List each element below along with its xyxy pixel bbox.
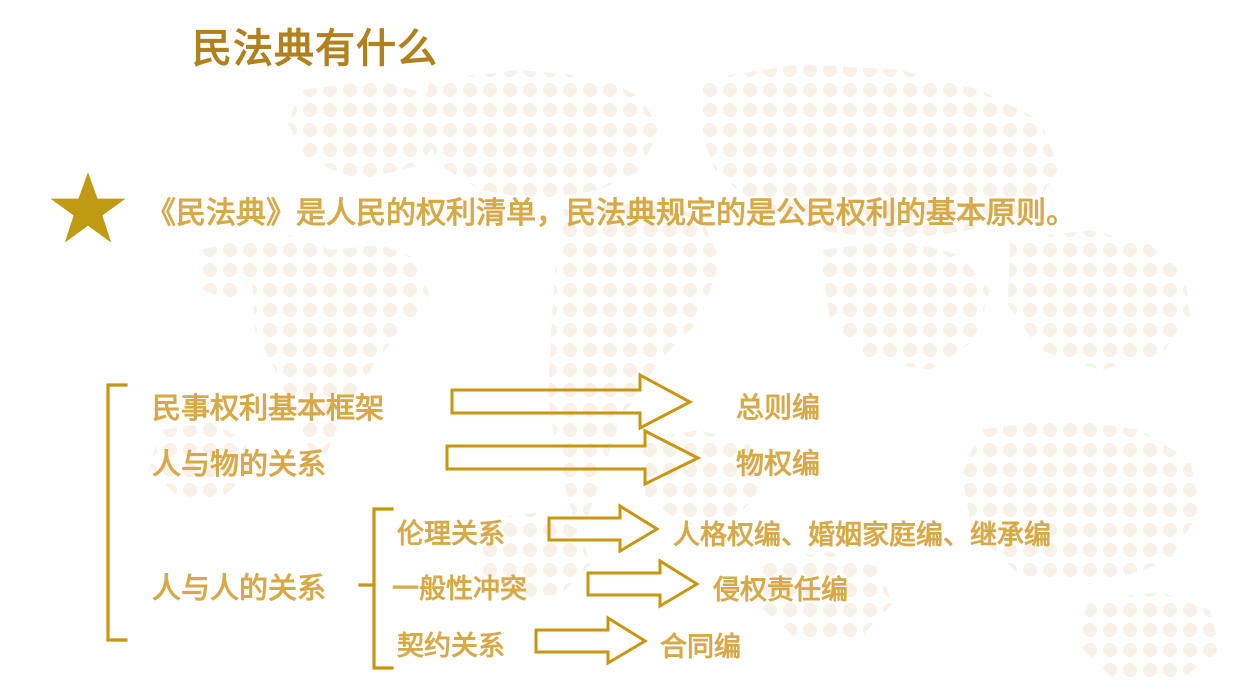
page-title: 民法典有什么	[192, 26, 438, 72]
output-label-contract: 合同编	[660, 625, 741, 664]
branch-label-civil-rights-framework: 民事权利基本框架	[152, 385, 384, 427]
sub-branch-label-general-conflict: 一般性冲突	[392, 567, 527, 606]
subtitle-text: 《民法典》是人民的权利清单，民法典规定的是公民权利的基本原则。	[146, 196, 1076, 232]
sub-branch-label-contractual-relation: 契约关系	[397, 624, 505, 663]
star-icon	[47, 169, 129, 249]
output-label-general-provisions: 总则编	[736, 386, 820, 426]
slide-canvas: 民法典有什么 《民法典》是人民的权利清单，民法典规定的是公民权利的基本原则。	[0, 0, 1248, 692]
diagram-labels: 民事权利基本框架 人与物的关系 人与人的关系 伦理关系 一般性冲突 契约关系 总…	[0, 0, 1248, 692]
branch-label-person-thing-relation: 人与物的关系	[152, 441, 326, 483]
output-label-personality-marriage-succession: 人格权编、婚姻家庭编、继承编	[673, 513, 1051, 552]
output-label-property-rights: 物权编	[736, 442, 820, 482]
branch-label-person-person-relation: 人与人的关系	[152, 565, 326, 607]
sub-branch-label-ethical-relation: 伦理关系	[397, 512, 505, 551]
output-label-tort-liability: 侵权责任编	[713, 568, 848, 607]
